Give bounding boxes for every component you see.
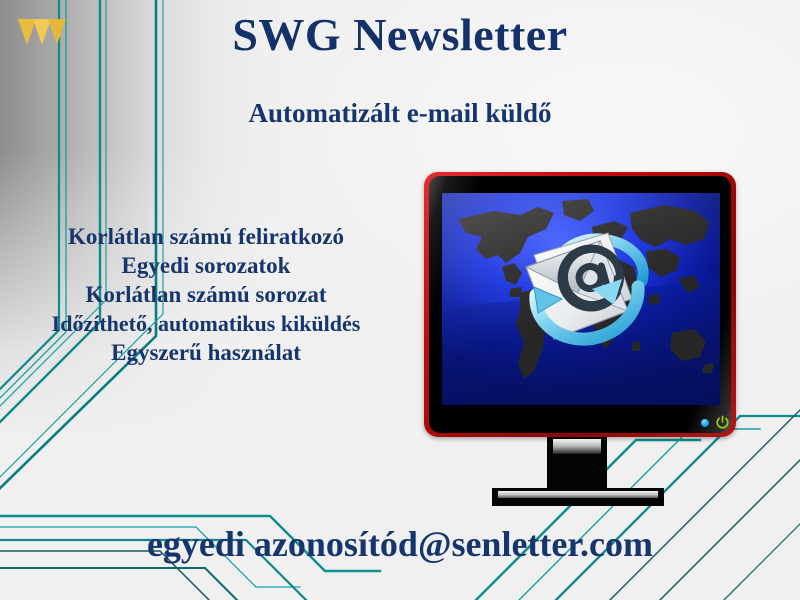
monitor-stand-base-highlight: [498, 491, 658, 498]
list-item: Korlátlan számú sorozat: [6, 280, 406, 309]
page-subtitle: Automatizált e-mail küldő: [0, 98, 800, 129]
background-gradient: [0, 0, 330, 440]
monitor-stand-neck-highlight: [553, 439, 601, 454]
email-envelope-icon: [442, 193, 720, 405]
list-item: Egyedi sorozatok: [6, 251, 406, 280]
monitor-screen: [442, 193, 720, 405]
list-item: Időzíthető, automatikus kiküldés: [6, 310, 406, 338]
monitor-inner-frame: [429, 176, 731, 433]
computer-monitor-illustration: [424, 172, 744, 502]
background-gradient-fade: [0, 0, 330, 440]
power-led-indicator: [701, 419, 709, 427]
monitor-bezel: [424, 172, 736, 437]
newsletter-slide: SWG Newsletter Automatizált e-mail küldő…: [0, 0, 800, 600]
power-button-icon[interactable]: [715, 415, 730, 430]
page-title: SWG Newsletter: [0, 8, 800, 61]
list-item: Egyszerű használat: [6, 338, 406, 367]
email-address-text: egyedi azonosítód@senletter.com: [0, 523, 800, 565]
list-item: Korlátlan számú feliratkozó: [6, 222, 406, 251]
feature-list: Korlátlan számú feliratkozó Egyedi soroz…: [6, 222, 406, 367]
